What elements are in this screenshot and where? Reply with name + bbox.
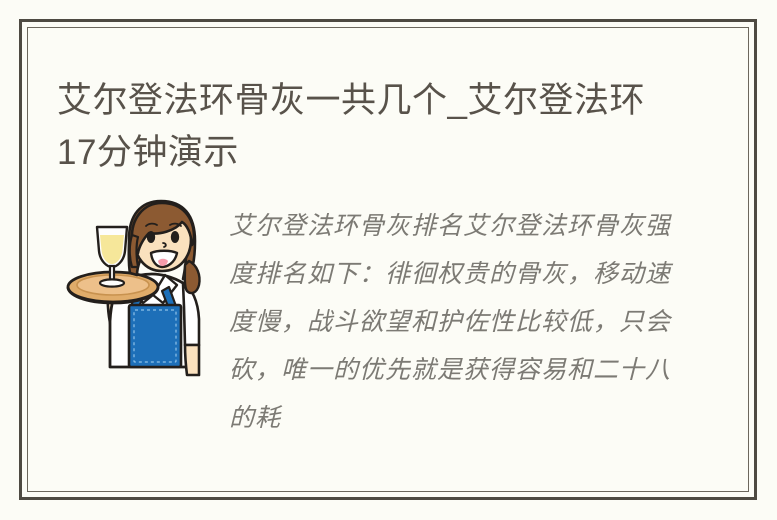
waitress-icon [65,195,213,395]
waitress-illustration [65,195,213,395]
ponytail [185,261,200,293]
eye-left [147,231,155,243]
wine-glass-foot [100,279,124,286]
page-title: 艾尔登法环骨灰一共几个_艾尔登法环17分钟演示 [57,75,667,179]
article-content: 艾尔登法环骨灰排名艾尔登法环骨灰强度排名如下：徘徊权贵的骨灰，移动速度慢，战斗欲… [57,190,682,440]
right-arm [185,345,199,375]
eye-right [171,231,179,243]
apron-bib [129,305,181,367]
article-body: 艾尔登法环骨灰排名艾尔登法环骨灰强度排名如下：徘徊权贵的骨灰，移动速度慢，战斗欲… [229,202,679,442]
hair-lock-left [130,235,138,267]
page-root: 艾尔登法环骨灰一共几个_艾尔登法环17分钟演示 [0,0,777,520]
